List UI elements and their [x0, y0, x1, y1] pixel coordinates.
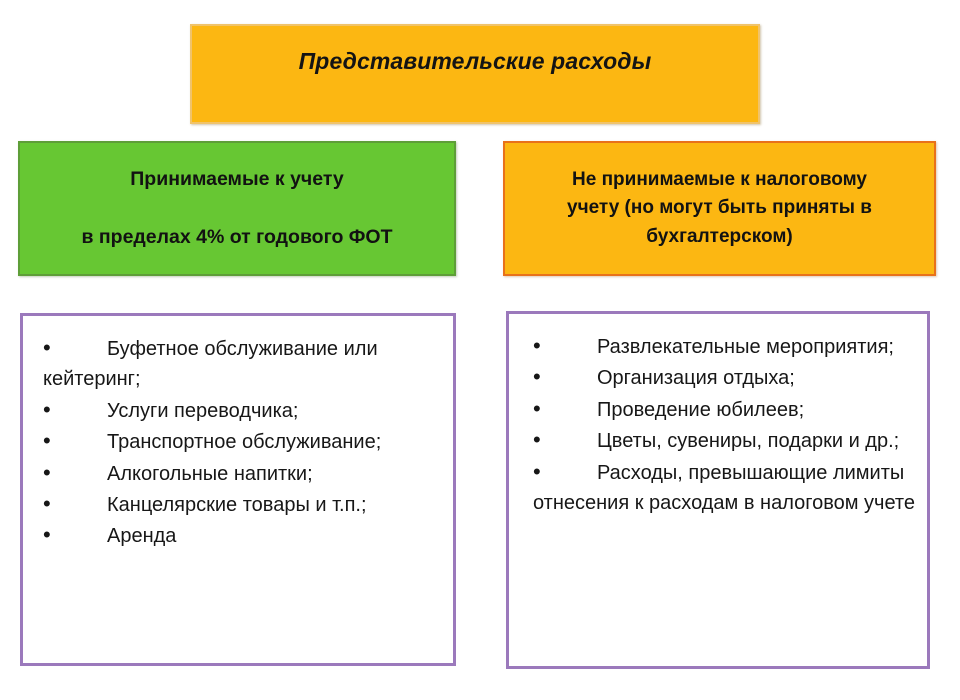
- category-not-accepted-line-1: Не принимаемые к налоговому: [519, 166, 920, 195]
- list-item-label: Услуги переводчика;: [107, 400, 298, 422]
- category-header-accepted: Принимаемые к учету в пределах 4% от год…: [18, 141, 456, 276]
- bullet-icon: [533, 398, 597, 420]
- accepted-items-list: Буфетное обслуживание или кейтеринг;Услу…: [23, 316, 453, 563]
- diagram-canvas: Представительские расходы Принимаемые к …: [0, 0, 960, 700]
- page-title: Представительские расходы: [192, 48, 758, 75]
- list-item: Проведение юбилеев;: [533, 395, 915, 425]
- bullet-icon: [43, 524, 107, 546]
- list-item: Развлекательные мероприятия;: [533, 332, 915, 362]
- bullet-icon: [533, 335, 597, 357]
- list-item-label: Транспортное обслуживание;: [107, 431, 381, 453]
- bullet-icon: [533, 366, 597, 388]
- bullet-icon: [43, 462, 107, 484]
- list-box-not-accepted: Развлекательные мероприятия;Организация …: [506, 311, 930, 669]
- bullet-icon: [43, 430, 107, 452]
- list-item: Алкогольные напитки;: [43, 459, 441, 489]
- not-accepted-items-list: Развлекательные мероприятия;Организация …: [509, 314, 927, 529]
- list-item: Расходы, превышающие лимиты отнесения к …: [533, 458, 915, 519]
- category-not-accepted-line-3: бухгалтерском): [519, 223, 920, 252]
- list-item-label: Развлекательные мероприятия;: [597, 336, 894, 358]
- title-banner: Представительские расходы: [190, 24, 760, 124]
- list-item-label: Канцелярские товары и т.п.;: [107, 494, 367, 516]
- category-accepted-line-1: Принимаемые к учету: [34, 168, 440, 192]
- list-box-accepted: Буфетное обслуживание или кейтеринг;Услу…: [20, 313, 456, 666]
- category-header-not-accepted-text: Не принимаемые к налоговому учету (но мо…: [505, 166, 934, 252]
- list-item-label: Организация отдыха;: [597, 367, 795, 389]
- list-item: Цветы, сувениры, подарки и др.;: [533, 426, 915, 456]
- list-item-label: Аренда: [107, 525, 176, 547]
- list-item: Канцелярские товары и т.п.;: [43, 490, 441, 520]
- list-item-label: Алкогольные напитки;: [107, 463, 313, 485]
- list-item-label: Цветы, сувениры, подарки и др.;: [597, 430, 899, 452]
- bullet-icon: [533, 461, 597, 483]
- list-item: Транспортное обслуживание;: [43, 427, 441, 457]
- bullet-icon: [43, 399, 107, 421]
- list-item: Аренда: [43, 521, 441, 551]
- category-not-accepted-line-2: учету (но могут быть приняты в: [519, 194, 920, 223]
- list-item: Организация отдыха;: [533, 363, 915, 393]
- list-item: Услуги переводчика;: [43, 396, 441, 426]
- list-item: Буфетное обслуживание или кейтеринг;: [43, 334, 441, 395]
- bullet-icon: [43, 337, 107, 359]
- category-accepted-line-2: в пределах 4% от годового ФОТ: [34, 226, 440, 250]
- bullet-icon: [43, 493, 107, 515]
- category-header-not-accepted: Не принимаемые к налоговому учету (но мо…: [503, 141, 936, 276]
- bullet-icon: [533, 429, 597, 451]
- list-item-label: Проведение юбилеев;: [597, 399, 804, 421]
- category-header-accepted-text: Принимаемые к учету в пределах 4% от год…: [20, 168, 454, 250]
